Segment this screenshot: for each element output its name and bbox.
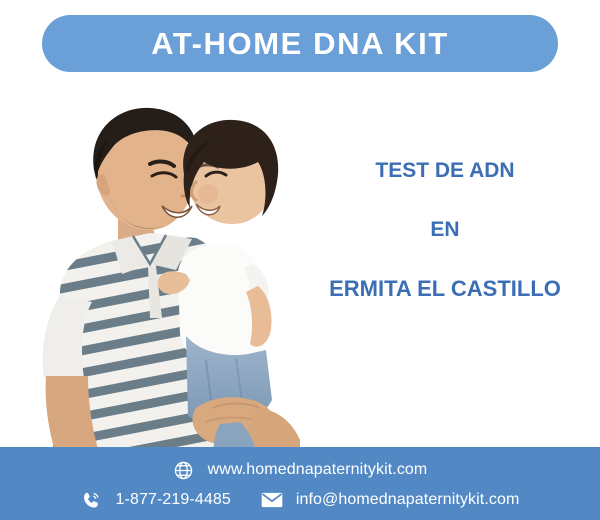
footer-band: www.homednapaternitykit.com 1-877-219-44… — [0, 447, 600, 520]
info-line-test: TEST DE ADN — [300, 160, 590, 181]
envelope-icon — [261, 489, 283, 511]
header-band: AT-HOME DNA KIT — [0, 0, 600, 86]
globe-icon — [173, 459, 195, 481]
email-label: info@homednapaternitykit.com — [296, 491, 520, 509]
email-contact[interactable]: info@homednapaternitykit.com — [261, 489, 520, 511]
info-line-location: ERMITA EL CASTILLO — [300, 278, 590, 300]
website-label: www.homednapaternitykit.com — [208, 461, 428, 479]
poster: AT-HOME DNA KIT — [0, 0, 600, 520]
phone-contact[interactable]: 1-877-219-4485 — [81, 489, 231, 511]
footer-row-phone-email: 1-877-219-4485 info@homednapaternitykit.… — [0, 489, 600, 511]
father-and-child-photo — [0, 78, 320, 468]
photo-illustration — [0, 78, 320, 468]
title-pill: AT-HOME DNA KIT — [42, 15, 558, 72]
page-title: AT-HOME DNA KIT — [151, 28, 449, 59]
phone-label: 1-877-219-4485 — [116, 491, 231, 509]
phone-icon — [81, 489, 103, 511]
footer-row-website: www.homednapaternitykit.com — [0, 459, 600, 481]
website-contact[interactable]: www.homednapaternitykit.com — [173, 459, 428, 481]
info-line-en: EN — [300, 219, 590, 240]
location-info-block: TEST DE ADN EN ERMITA EL CASTILLO — [300, 160, 590, 300]
